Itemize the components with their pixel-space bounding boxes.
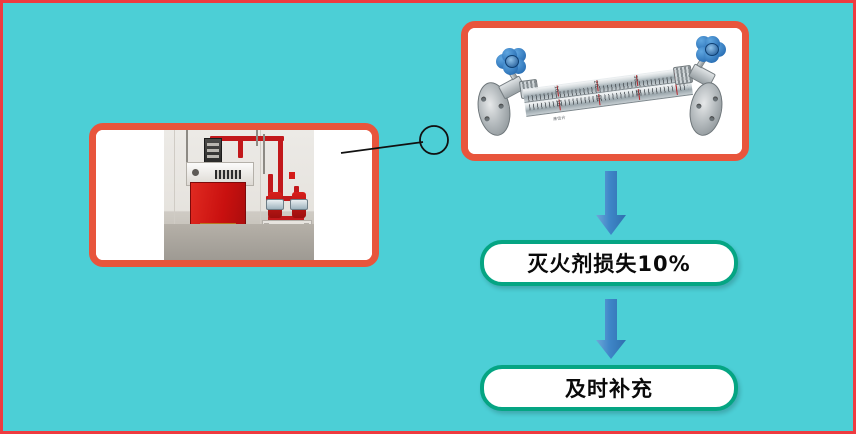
agent-loss-box[interactable]: 灭火剂损失10%: [480, 240, 738, 286]
warning-sign: [289, 172, 295, 179]
liquid-level-gauge-photo-frame[interactable]: 10 20 30 10 20 30 液位计: [461, 21, 749, 161]
cylinder-gauge: [290, 199, 308, 210]
agent-cylinder: [292, 192, 306, 218]
fire-suppression-room-photo-frame[interactable]: [89, 123, 379, 267]
arrow-loss-to-refill: [591, 299, 631, 361]
timely-refill-box[interactable]: 及时补充: [480, 365, 738, 411]
panel-knob: [192, 169, 199, 176]
red-pipe: [238, 136, 243, 158]
room-scene: [164, 130, 314, 260]
panel-grille: [215, 170, 241, 179]
handwheel-left[interactable]: [496, 48, 526, 74]
arrow-shape: [596, 299, 626, 359]
handwheel-right[interactable]: [696, 36, 726, 62]
fire-suppression-room-photo: [96, 130, 372, 260]
conduit: [263, 134, 265, 174]
liquid-level-gauge-photo: 10 20 30 10 20 30 液位计: [468, 28, 742, 154]
wall-seam: [260, 130, 261, 238]
cylinder-gauge: [266, 199, 284, 210]
slide-canvas: 10 20 30 10 20 30 液位计: [0, 0, 856, 434]
gauge-scale-tube: 10 20 30 10 20 30 液位计: [523, 67, 693, 119]
callout-leader-line: [341, 142, 423, 153]
arrow-gauge-to-loss: [591, 171, 631, 237]
arrow-shape: [596, 171, 626, 235]
timely-refill-label: 及时补充: [565, 373, 653, 403]
magnifier-callout: [339, 115, 469, 175]
agent-loss-label: 灭火剂损失10%: [527, 248, 690, 278]
callout-circle: [420, 126, 448, 154]
conduit: [256, 130, 258, 146]
agent-cylinder: [268, 192, 282, 218]
gauge-assembly: 10 20 30 10 20 30 液位计: [468, 28, 742, 154]
gauge-marking-text: 液位计: [553, 115, 567, 123]
floor: [164, 224, 314, 260]
red-pipe: [278, 136, 283, 200]
